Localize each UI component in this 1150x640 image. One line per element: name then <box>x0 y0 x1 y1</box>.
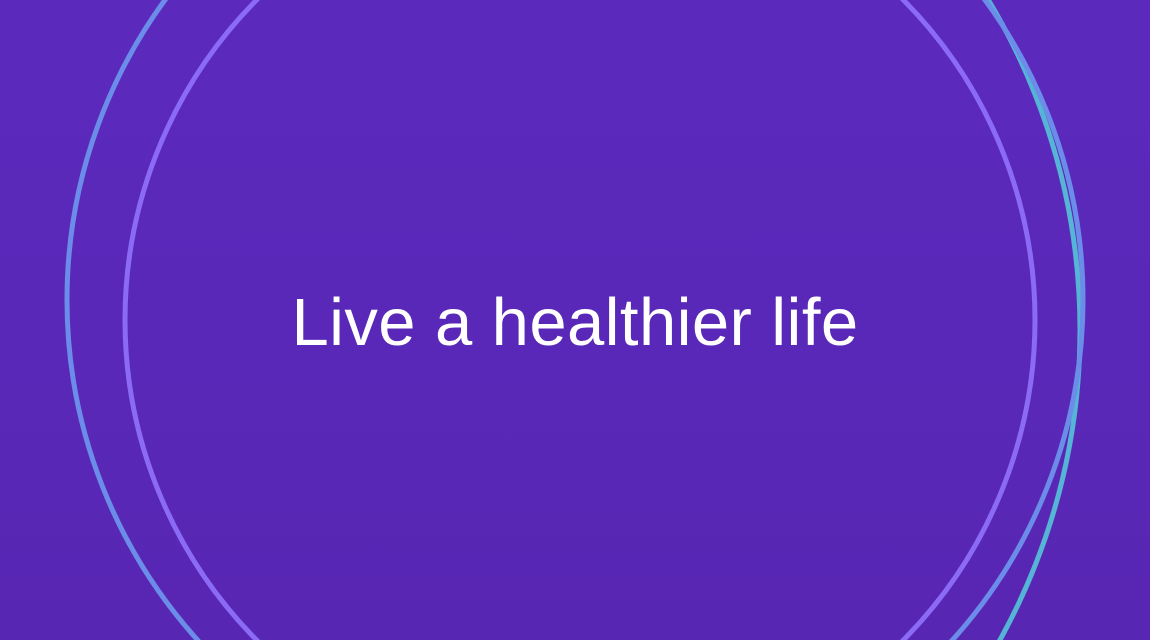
title-slide: Live a healthier life <box>0 0 1150 640</box>
purple-ring-icon <box>125 0 1035 640</box>
blue-ring-icon <box>67 0 1083 640</box>
decorative-rings-graphic <box>0 0 1150 640</box>
teal-ring-icon <box>0 0 1080 640</box>
